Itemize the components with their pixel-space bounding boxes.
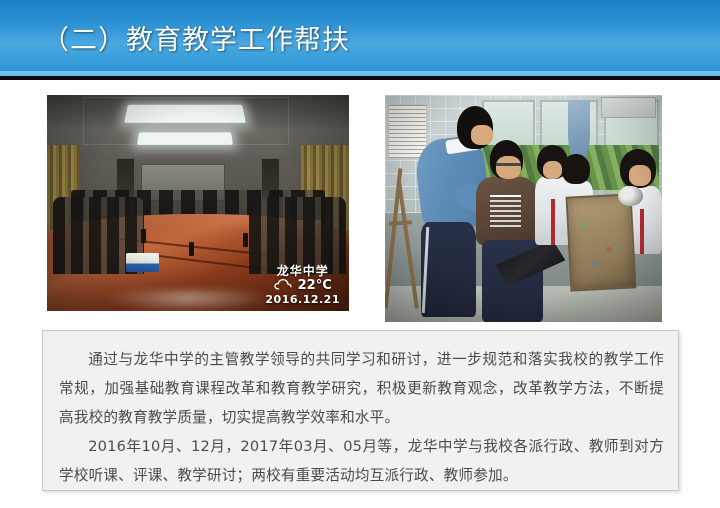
- body-text-box: 通过与龙华中学的主管教学领导的共同学习和研讨，进一步规范和落实我校的教学工作常规…: [42, 330, 679, 491]
- body-paragraph: 2016年10月、12月，2017年03月、05月等，龙华中学与我校各派行政、教…: [59, 432, 664, 490]
- body-paragraph: 通过与龙华中学的主管教学领导的共同学习和研讨，进一步规范和落实我校的教学工作常规…: [59, 345, 664, 432]
- cloud-icon: [274, 278, 292, 294]
- slide: （二）教育教学工作帮扶: [0, 0, 720, 508]
- watermark-date: 2016.12.21: [265, 294, 340, 307]
- photo-watermark: 龙华中学 22°C 2016.12.21: [265, 264, 340, 307]
- photo-vignette: [385, 95, 662, 322]
- classroom-photo: [385, 95, 662, 322]
- watermark-school-name: 龙华中学: [265, 264, 340, 278]
- watermark-temperature: 22°C: [298, 278, 332, 293]
- banner-dark-rule: [0, 76, 720, 80]
- classroom-scene: [385, 95, 662, 322]
- paragraph-list: 通过与龙华中学的主管教学领导的共同学习和研讨，进一步规范和落实我校的教学工作常规…: [43, 331, 678, 490]
- page-title: （二）教育教学工作帮扶: [42, 25, 350, 57]
- meeting-room-photo: 龙华中学 22°C 2016.12.21: [47, 95, 349, 311]
- watermark-weather: 22°C: [265, 278, 340, 294]
